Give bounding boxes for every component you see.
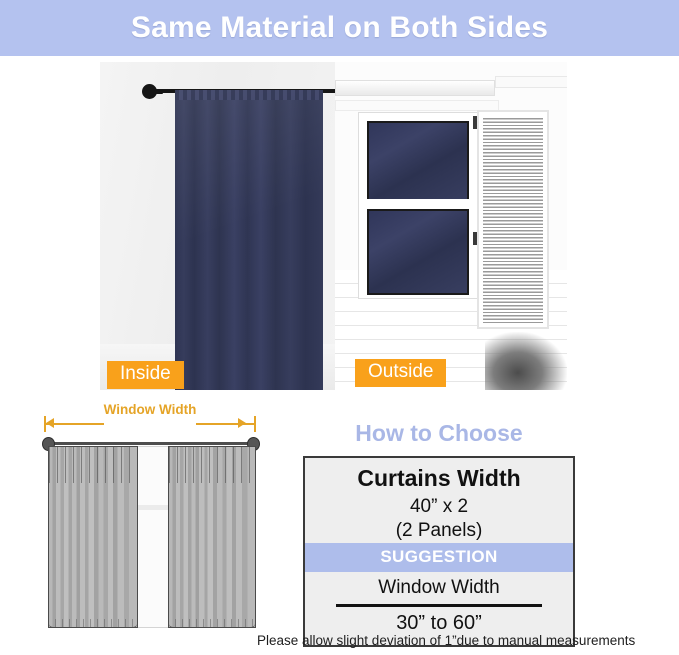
dimension-arrow-left-icon — [46, 418, 54, 428]
window-mullion — [359, 199, 477, 209]
badge-outside: Outside — [355, 359, 446, 387]
window-frame — [358, 112, 478, 299]
measurement-disclaimer: Please allow slight deviation of 1”due t… — [257, 633, 635, 648]
dimension-arrow-right-icon — [238, 418, 246, 428]
page-title: Same Material on Both Sides — [131, 11, 548, 45]
dimension-cap-right — [254, 416, 256, 432]
window-trim-right — [495, 76, 567, 88]
how-to-choose-title: How to Choose — [303, 420, 575, 447]
diagram-curtain-panel-right — [168, 446, 256, 628]
curtain-sheen — [175, 90, 323, 390]
dimension-line-right — [196, 423, 256, 425]
spec-table: Curtains Width 40” x 2 (2 Panels) SUGGES… — [303, 456, 575, 647]
diagram-rod — [48, 442, 252, 445]
window-trim-secondary — [335, 100, 499, 111]
foreground-shrub — [485, 332, 567, 390]
louvered-shutter — [477, 110, 549, 329]
diagram-curtain-panel-left — [48, 446, 138, 628]
navy-curtain-panel — [175, 90, 323, 390]
diagram-hem-right — [169, 619, 255, 628]
photo-inside — [100, 62, 335, 390]
diagram-pleats-left — [49, 447, 137, 483]
spec-curtains-width-value: 40” x 2 — [305, 495, 573, 519]
spec-panels-note: (2 Panels) — [305, 519, 573, 543]
spec-window-width-header: Window Width — [305, 572, 573, 603]
spec-curtains-width-header: Curtains Width — [305, 458, 573, 495]
diagram-window — [134, 446, 172, 628]
window-trim-top — [335, 80, 495, 96]
photo-outside — [335, 62, 567, 390]
badge-inside: Inside — [107, 361, 184, 389]
header-banner: Same Material on Both Sides — [0, 0, 679, 56]
window-width-diagram: Window Width — [30, 402, 270, 637]
dimension-label: Window Width — [30, 402, 270, 417]
photo-strip — [100, 62, 567, 390]
diagram-hem-left — [49, 619, 137, 628]
rod-finial-icon — [142, 84, 157, 99]
shutter-louvers — [483, 116, 543, 323]
spec-suggestion-label: SUGGESTION — [305, 543, 573, 572]
diagram-pleats-right — [169, 447, 255, 483]
window-pane-bottom — [367, 209, 469, 295]
window-pane-top — [367, 121, 469, 203]
